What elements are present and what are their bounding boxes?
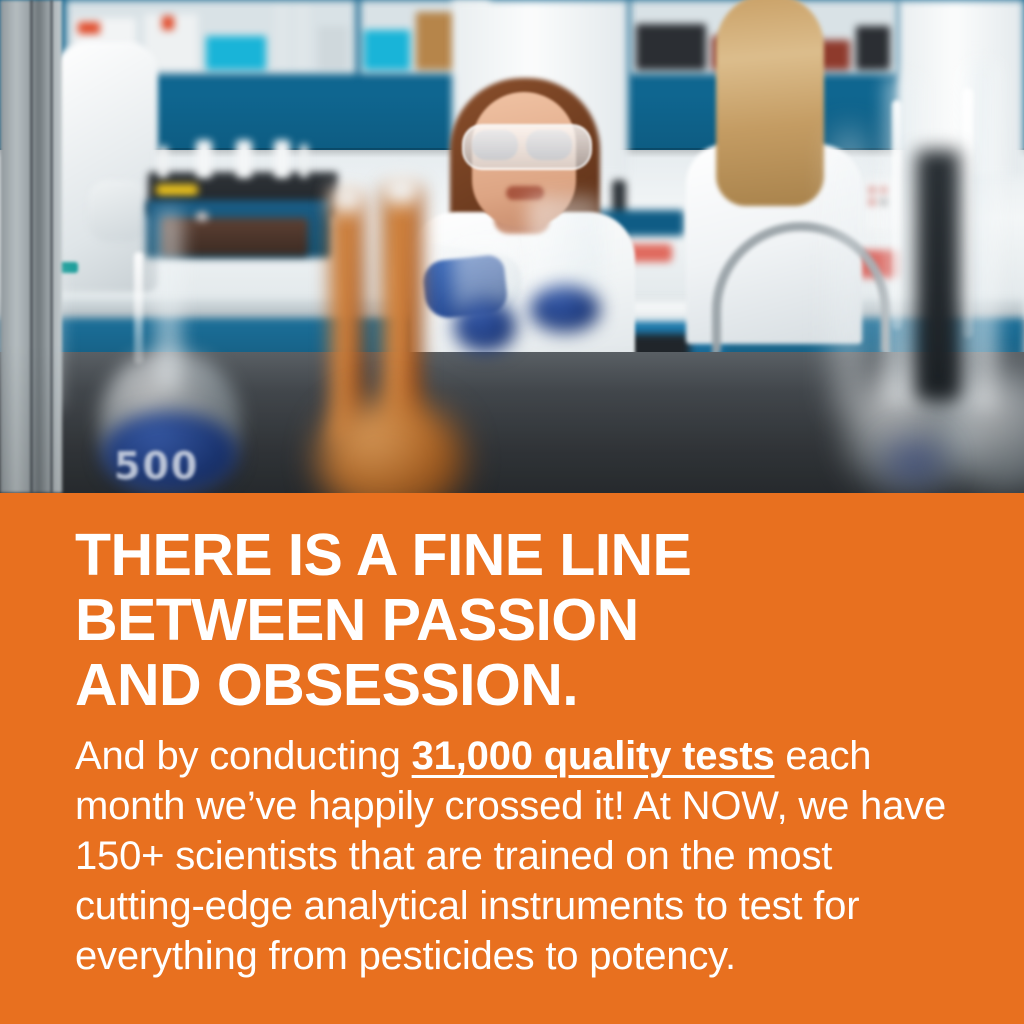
orange-text-panel: THERE IS A FINE LINE BETWEEN PASSION AND… (0, 493, 1024, 1024)
volumetric-flask-right-3 (836, 132, 862, 412)
body-copy-before: And by conducting (75, 734, 412, 778)
door-seam-2 (50, 0, 53, 493)
instrument-panel (162, 218, 308, 256)
dark-column-right (916, 150, 960, 400)
lab-worker-right-hair (716, 0, 824, 206)
amber-flask-stopper-1 (332, 186, 362, 212)
flask-center-liquid (530, 286, 600, 332)
instrument-yellow-strip (156, 184, 198, 196)
volumetric-flask-right-2 (954, 62, 1000, 410)
flask-500-highlight (134, 252, 143, 364)
rack-tube-4 (274, 140, 290, 178)
erlenmeyer-blue-liquid (454, 300, 516, 352)
rack-tube-2 (196, 140, 212, 178)
poster-root: 500 THERE IS A FINE LINE BETWEEN PASSION… (0, 0, 1024, 1024)
lab-photo: 500 (0, 0, 1024, 493)
headline: THERE IS A FINE LINE BETWEEN PASSION AND… (75, 523, 955, 718)
lab-worker-left-arm (88, 180, 148, 242)
amber-flask-stopper-2 (384, 176, 418, 204)
flask-right-highlight-2 (962, 88, 973, 338)
flask-500-label: 500 (114, 444, 199, 488)
door-seam-1 (30, 0, 33, 493)
instrument-indicator (196, 212, 208, 221)
body-copy: And by conducting 31,000 quality tests e… (75, 731, 955, 981)
flask-right-liquid (884, 440, 944, 484)
flask-right-highlight-1 (892, 100, 902, 330)
rack-tube-5 (300, 144, 308, 178)
scientist-center (402, 62, 652, 362)
safety-goggles (462, 124, 592, 170)
rack-tube-1 (158, 146, 168, 178)
quality-tests-highlight: 31,000 quality tests (412, 734, 775, 778)
rack-tube-3 (236, 140, 252, 178)
